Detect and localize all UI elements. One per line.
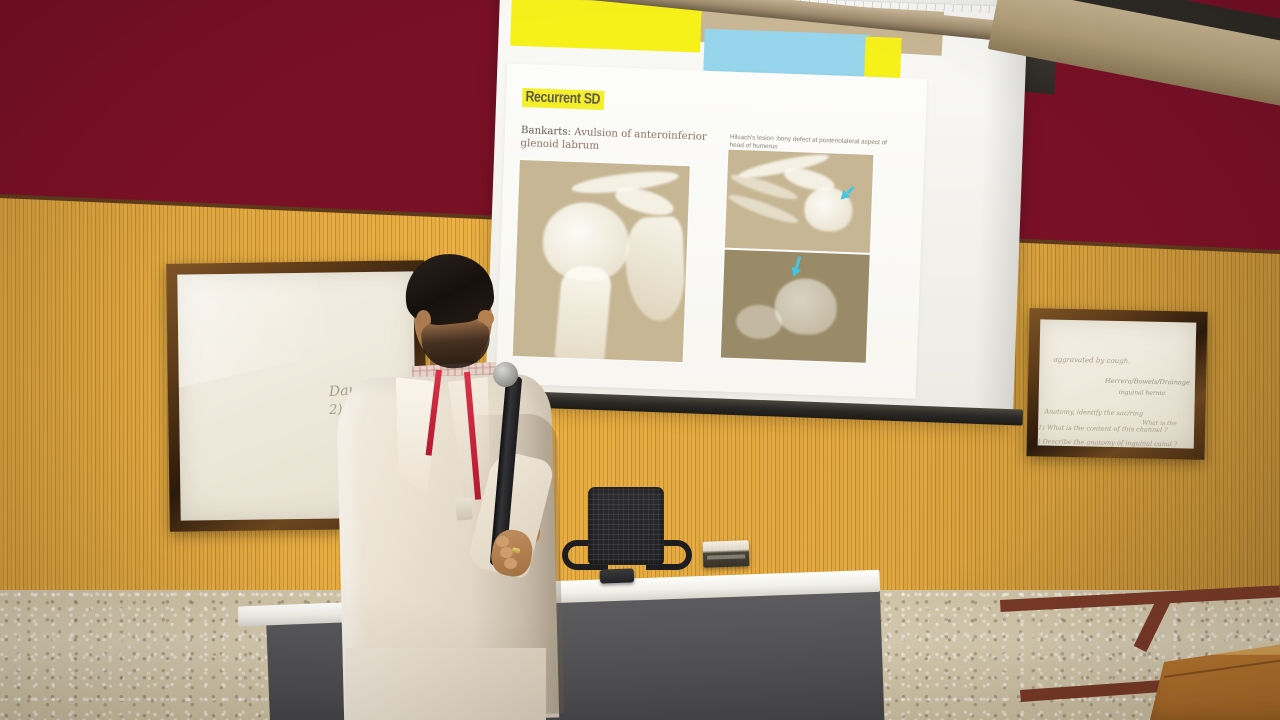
presenter	[330, 248, 590, 720]
whiteboard-right-line: inguinal hernia	[1119, 389, 1165, 397]
knuckle	[496, 536, 509, 547]
knuckle	[504, 558, 517, 569]
shoulder-xray-hill-sachs	[725, 150, 873, 253]
annotation-arrow	[789, 267, 801, 279]
glenoid-shadow	[624, 216, 685, 322]
whiteboard-right-line: Anatomy, identify the sac/ring	[1044, 407, 1143, 417]
slide-decor-yellow-sliver	[864, 37, 902, 82]
bankart-caption: Bankarts: Avulsion of anteroinferior gle…	[520, 124, 721, 157]
id-badge	[455, 497, 472, 520]
annotation-arrow-tail	[847, 186, 855, 194]
coat-hem	[346, 648, 546, 720]
plastic-container[interactable]	[703, 540, 750, 568]
humeral-head-shadow	[774, 277, 838, 335]
knuckle	[500, 547, 513, 558]
whiteboard-right-signature: What is the	[1142, 420, 1177, 428]
whiteboard-right-line: aggravated by cough.	[1053, 356, 1130, 366]
shoulder-ct-hill-sachs	[721, 250, 870, 363]
soft-tissue-shadow	[736, 304, 783, 340]
bankart-term: Bankarts:	[521, 125, 571, 138]
whiteboard-right-line: 2) Describe the anatomy of inguinal cana…	[1038, 437, 1178, 448]
whiteboard-right-line: Herrera/Bowels/Drainage	[1105, 377, 1190, 387]
presentation-remote[interactable]	[600, 568, 634, 583]
slide-title: Recurrent SD	[522, 88, 605, 110]
glare-highlight	[177, 271, 333, 388]
chair-backrest	[588, 487, 664, 565]
acromion-shadow	[613, 184, 677, 220]
whiteboard-right: aggravated by cough. Herrera/Bowels/Drai…	[1026, 308, 1207, 460]
lecture-hall-scene: Daunter 2) P aggravated by cough. Herrer…	[0, 0, 1280, 720]
